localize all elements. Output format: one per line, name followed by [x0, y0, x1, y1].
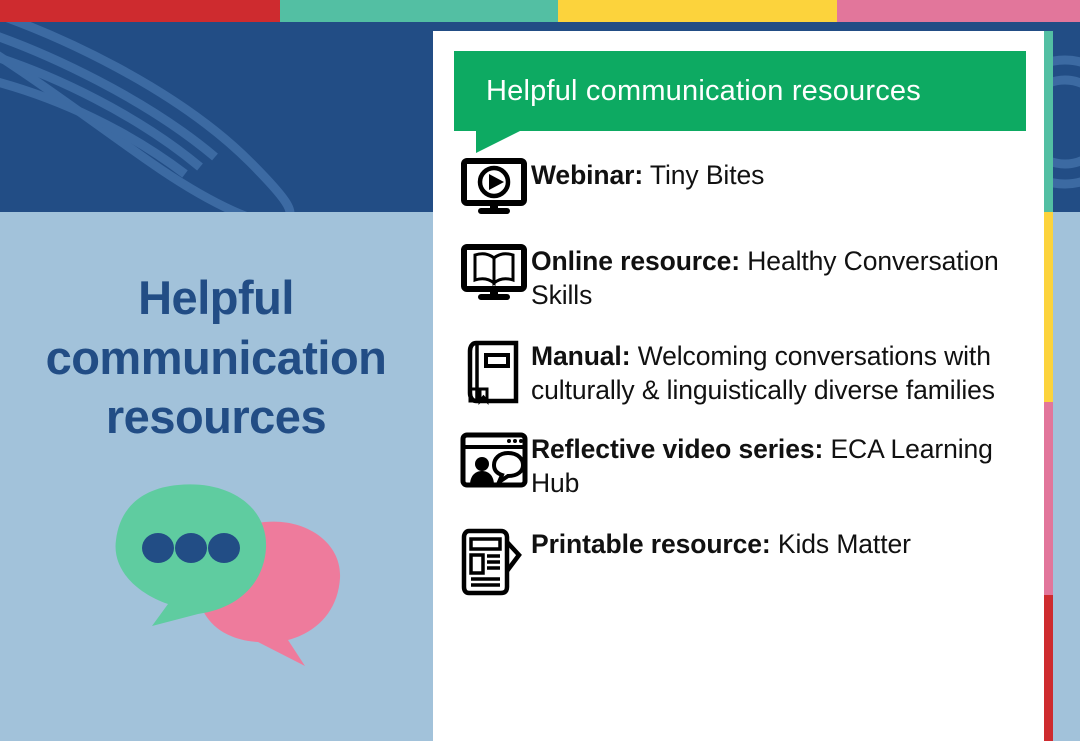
- page-title: Helpful communication resources: [0, 268, 432, 447]
- list-item[interactable]: Online resource: Healthy Conversation Sk…: [457, 242, 1035, 313]
- list-item-label: Manual:: [531, 341, 630, 371]
- printable-document-icon: [457, 525, 531, 597]
- bubble-dot-2: [175, 533, 207, 563]
- list-item-text: Manual: Welcoming conversations with cul…: [531, 337, 1035, 408]
- list-item-value: Tiny Bites: [650, 160, 764, 190]
- card-banner-box: Helpful communication resources: [454, 51, 1026, 131]
- list-item-value: Kids Matter: [778, 529, 911, 559]
- top-band-segment-pink: [837, 0, 1080, 22]
- side-strip-segment-yellow: [1044, 212, 1053, 402]
- side-strip-segment-teal: [1044, 31, 1053, 212]
- list-item-text: Webinar: Tiny Bites: [531, 156, 1035, 192]
- list-item-label: Reflective video series:: [531, 434, 823, 464]
- list-item-label: Webinar:: [531, 160, 643, 190]
- bubble-dot-3: [208, 533, 240, 563]
- list-item[interactable]: Webinar: Tiny Bites: [457, 156, 1035, 216]
- bubble-dot-1: [142, 533, 174, 563]
- top-band-segment-teal: [280, 0, 558, 22]
- list-item[interactable]: Printable resource: Kids Matter: [457, 525, 1035, 597]
- side-color-strip: [1044, 31, 1053, 741]
- speech-bubble-icon: [100, 480, 380, 670]
- top-band-segment-yellow: [558, 0, 837, 22]
- poster-root: Helpful communication resources Helpful …: [0, 0, 1080, 741]
- list-item[interactable]: Reflective video series: ECA Learning Hu…: [457, 430, 1035, 501]
- resource-list: Webinar: Tiny Bites O: [457, 156, 1035, 597]
- top-color-band: [0, 0, 1080, 22]
- resources-card: Helpful communication resources: [433, 31, 1044, 741]
- manual-book-icon: [457, 337, 531, 405]
- list-item-text: Reflective video series: ECA Learning Hu…: [531, 430, 1035, 501]
- list-item-label: Printable resource:: [531, 529, 771, 559]
- list-item[interactable]: Manual: Welcoming conversations with cul…: [457, 337, 1035, 408]
- monitor-book-icon: [457, 242, 531, 302]
- list-item-text: Printable resource: Kids Matter: [531, 525, 1035, 561]
- side-strip-segment-red: [1044, 595, 1053, 741]
- card-banner-title: Helpful communication resources: [486, 75, 921, 108]
- browser-person-speech-icon: [457, 430, 531, 488]
- speech-bubbles-illustration: [100, 480, 380, 670]
- monitor-play-icon: [457, 156, 531, 216]
- card-banner: Helpful communication resources: [454, 51, 1026, 173]
- banner-tail-icon: [476, 131, 520, 153]
- list-item-label: Online resource:: [531, 246, 740, 276]
- top-band-segment-red: [0, 0, 280, 22]
- list-item-text: Online resource: Healthy Conversation Sk…: [531, 242, 1035, 313]
- side-strip-segment-pink: [1044, 402, 1053, 595]
